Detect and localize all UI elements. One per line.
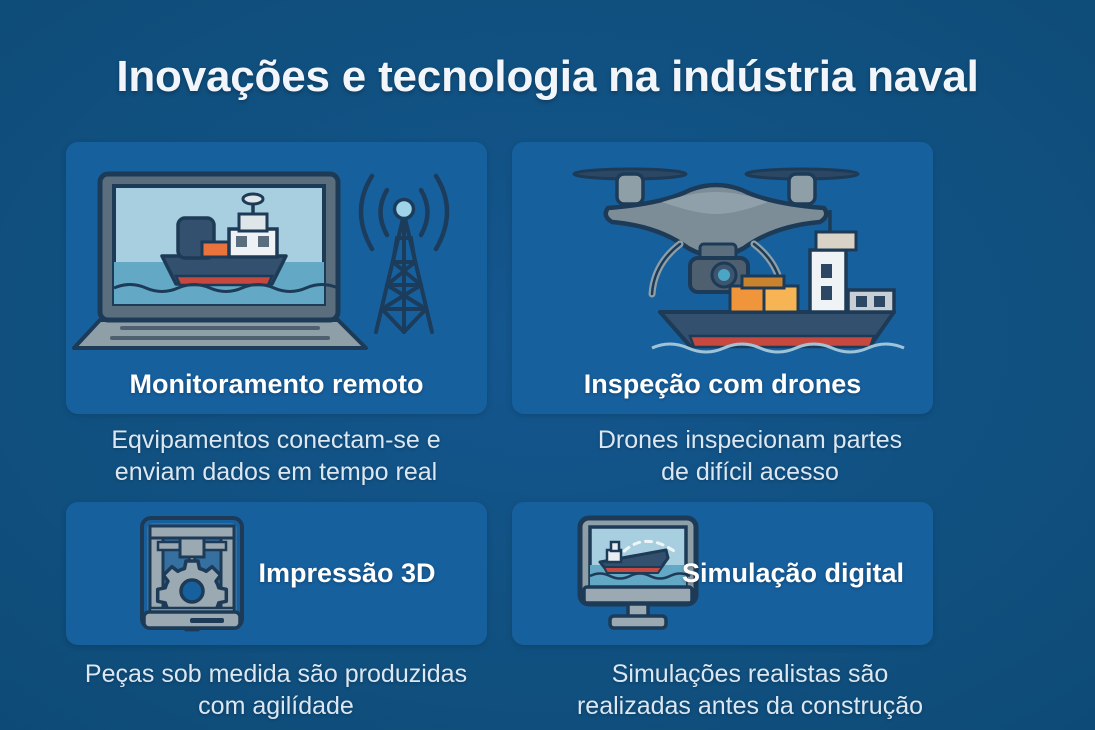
card-impressao-3d[interactable]: Impressão 3D <box>66 502 487 645</box>
caption-line-1: Drones inspecionam partes <box>520 424 980 456</box>
card-title: Impressão 3D <box>227 502 467 645</box>
card-title: Monitoramento remoto <box>66 369 487 400</box>
card-inspecao-com-drones[interactable]: Inspeção com drones <box>512 142 933 414</box>
card-simulacao-digital[interactable]: Simulação digital <box>512 502 933 645</box>
infographic-root: Inovações e tecnologia na indústria nava… <box>0 0 1095 730</box>
card-title: Inspeção com drones <box>512 369 933 400</box>
caption-line-1: Simulações realistas são <box>520 658 980 690</box>
laptop-ship-radio-tower-icon <box>66 152 487 357</box>
page-title: Inovações e tecnologia na indústria nava… <box>0 52 1095 102</box>
caption-line-1: Eqvipamentos conectam-se e <box>46 424 506 456</box>
caption-inspecao-com-drones: Drones inspecionam partes de difícil ace… <box>520 424 980 488</box>
caption-line-2: realizadas antes da construção <box>520 690 980 722</box>
caption-line-2: de difícil acesso <box>520 456 980 488</box>
caption-monitoramento-remoto: Eqvipamentos conectam-se e enviam dados … <box>46 424 506 488</box>
card-title-line-2: digital <box>825 558 905 588</box>
caption-line-1: Peças sob medida são produzidas <box>46 658 506 690</box>
caption-simulacao-digital: Simulações realistas são realizadas ante… <box>520 658 980 722</box>
card-title-line-1: Simulação <box>682 558 817 588</box>
drone-cargo-ship-icon <box>512 152 933 357</box>
caption-line-2: com agilídade <box>46 690 506 722</box>
caption-impressao-3d: Peças sob medida são produzidas com agil… <box>46 658 506 722</box>
card-monitoramento-remoto[interactable]: Monitoramento remoto <box>66 142 487 414</box>
card-title: Simulação digital <box>673 502 913 645</box>
caption-line-2: enviam dados em tempo real <box>46 456 506 488</box>
